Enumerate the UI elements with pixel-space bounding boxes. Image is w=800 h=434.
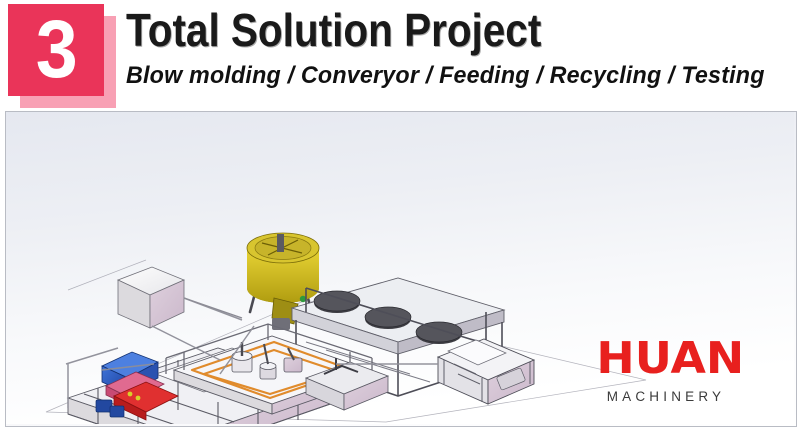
- brand-logo: HUAN MACHINERY: [599, 336, 729, 414]
- slide-root: 3 Total Solution Project Blow molding / …: [0, 0, 800, 434]
- illustration-canvas: HUAN MACHINERY: [6, 112, 794, 424]
- badge-number-label: 3: [36, 9, 76, 91]
- page-title: Total Solution Project: [126, 3, 541, 57]
- page-subtitle: Blow molding / Converyor / Feeding / Rec…: [126, 62, 765, 90]
- brand-logo-subtext: MACHINERY: [599, 388, 729, 406]
- illustration-panel: HUAN MACHINERY: [5, 111, 797, 427]
- badge-square: 3: [8, 4, 104, 96]
- section-number-badge: 3: [8, 4, 120, 108]
- header: 3 Total Solution Project Blow molding / …: [0, 0, 800, 110]
- brand-logo-mark: HUAN: [596, 336, 731, 382]
